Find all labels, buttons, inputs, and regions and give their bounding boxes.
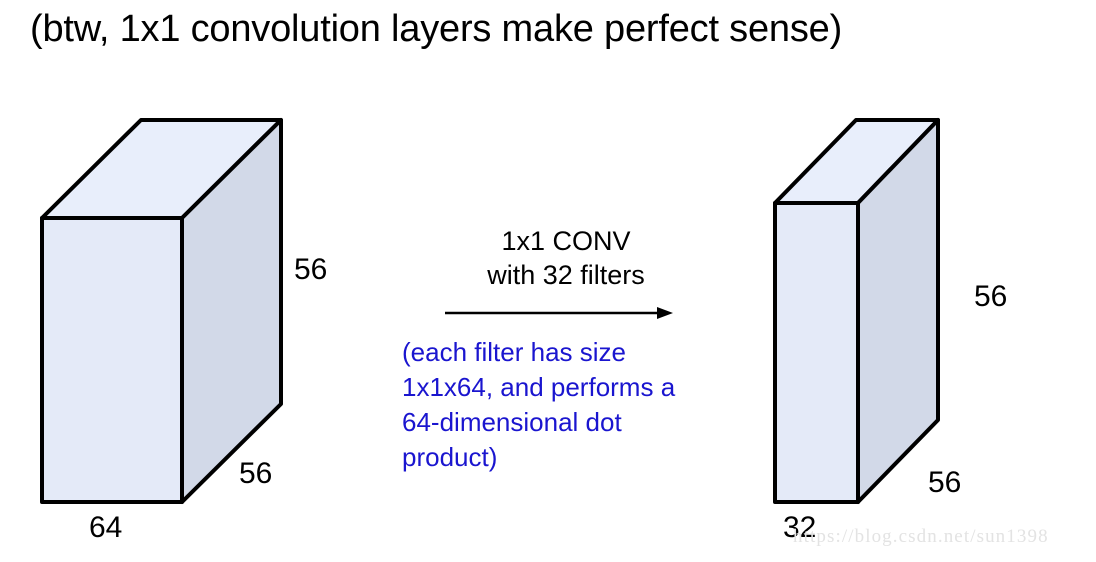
output-volume-cuboid — [775, 120, 938, 502]
filter-note-line-1: (each filter has size — [402, 335, 772, 370]
input-volume-depth-label: 56 — [239, 457, 272, 491]
conv-caption-line-2: with 32 filters — [446, 258, 686, 292]
output-volume-side-face — [858, 120, 938, 502]
page-title: (btw, 1x1 convolution layers make perfec… — [30, 6, 842, 52]
input-volume-side-face — [182, 120, 281, 502]
watermark-text: https://blog.csdn.net/sun1398 — [793, 526, 1049, 548]
filter-annotation-note: (each filter has size 1x1x64, and perfor… — [402, 335, 772, 475]
input-volume-cuboid — [42, 120, 281, 502]
output-volume-height-label: 56 — [974, 280, 1007, 314]
input-volume-front-face — [42, 218, 182, 502]
slide-canvas: (btw, 1x1 convolution layers make perfec… — [0, 0, 1096, 562]
filter-note-line-4: product) — [402, 440, 772, 475]
conv-operation-caption: 1x1 CONV with 32 filters — [446, 224, 686, 292]
output-volume-front-face — [775, 203, 858, 502]
input-volume-height-label: 56 — [294, 253, 327, 287]
output-volume-depth-label: 56 — [928, 466, 961, 500]
arrow-right-icon — [445, 307, 673, 319]
conv-caption-line-1: 1x1 CONV — [446, 224, 686, 258]
filter-note-line-2: 1x1x64, and performs a — [402, 370, 772, 405]
output-volume-top-face — [775, 120, 938, 203]
input-volume-width-label: 64 — [89, 511, 122, 545]
input-volume-top-face — [42, 120, 281, 218]
filter-note-line-3: 64-dimensional dot — [402, 405, 772, 440]
